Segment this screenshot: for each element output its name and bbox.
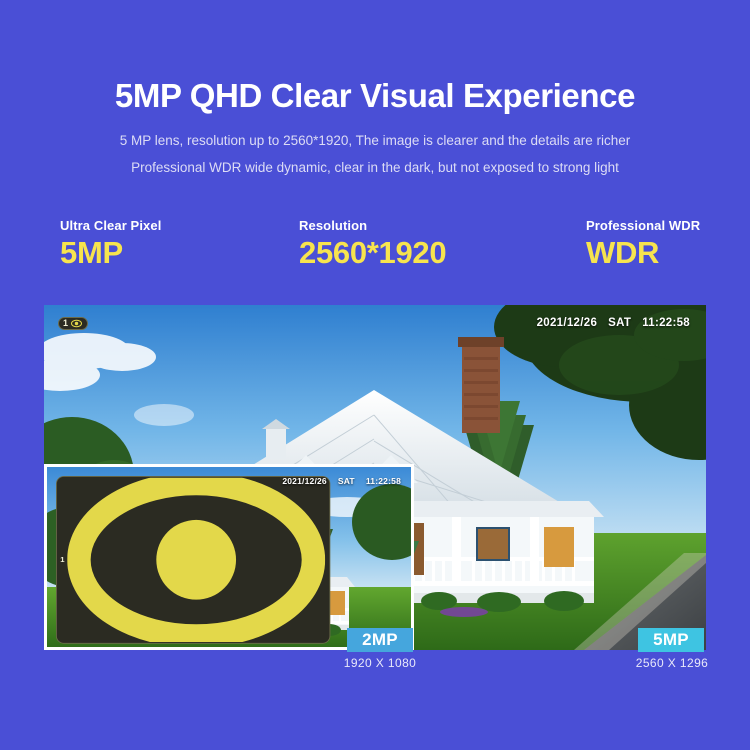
spec-item-resolution: Resolution 2560*1920 xyxy=(299,218,446,270)
channel-number: 1 xyxy=(63,319,68,328)
osd-time: 11:22:58 xyxy=(642,317,690,329)
badge-5mp: 5MP xyxy=(638,628,704,652)
pip-channel-number: 1 xyxy=(60,556,64,564)
spec-label: Ultra Clear Pixel xyxy=(60,218,161,233)
osd-date: 2021/12/26 xyxy=(537,317,598,329)
spec-value: 2560*1920 xyxy=(299,236,446,270)
pip-osd-weekday: SAT xyxy=(338,476,355,486)
subtitle-line-1: 5 MP lens, resolution up to 2560*1920, T… xyxy=(0,128,750,154)
badge-2mp: 2MP xyxy=(347,628,413,652)
osd-weekday: SAT xyxy=(608,317,631,329)
spec-label: Resolution xyxy=(299,218,446,233)
pip-channel-badge: 1 xyxy=(56,476,330,644)
eye-icon xyxy=(67,478,325,642)
spec-item-professional-wdr: Professional WDR WDR xyxy=(586,218,700,270)
pip-osd-date: 2021/12/26 xyxy=(282,476,327,486)
pip-timestamp-overlay: 2021/12/26SAT11:22:58 xyxy=(282,476,401,486)
spec-item-ultra-clear-pixel: Ultra Clear Pixel 5MP xyxy=(60,218,161,270)
caption-5mp-resolution: 2560 X 1296 xyxy=(592,656,750,670)
caption-2mp-resolution: 1920 X 1080 xyxy=(300,656,460,670)
timestamp-overlay: 2021/12/26SAT11:22:58 xyxy=(537,317,690,329)
subtitle-block: 5 MP lens, resolution up to 2560*1920, T… xyxy=(0,128,750,181)
channel-badge: 1 xyxy=(58,317,88,330)
pip-osd-time: 11:22:58 xyxy=(366,476,401,486)
spec-row: Ultra Clear Pixel 5MP Resolution 2560*19… xyxy=(0,218,750,290)
header: 5MP QHD Clear Visual Experience 5 MP len… xyxy=(0,0,750,181)
subtitle-line-2: Professional WDR wide dynamic, clear in … xyxy=(0,155,750,181)
eye-icon xyxy=(71,319,82,328)
page-title: 5MP QHD Clear Visual Experience xyxy=(0,78,750,114)
pip-camera-view: 1 2021/12/26SAT11:22:58 xyxy=(44,464,414,650)
spec-value: WDR xyxy=(586,236,700,270)
spec-value: 5MP xyxy=(60,236,161,270)
spec-label: Professional WDR xyxy=(586,218,700,233)
